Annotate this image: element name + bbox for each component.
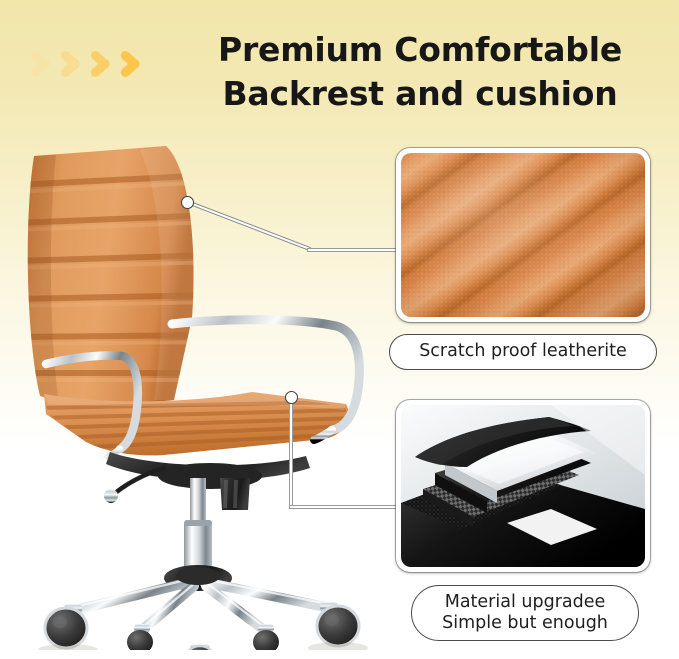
callout-seat-line-horizontal xyxy=(290,506,405,508)
chevron-right-icon-2 xyxy=(60,40,86,88)
chevron-right-icon-1 xyxy=(30,40,56,88)
chevron-right-icon-3 xyxy=(90,40,116,88)
callout-seat-dot xyxy=(285,391,298,404)
chevron-right-icon-4 xyxy=(120,40,146,88)
title-line-1: Premium Comfortable xyxy=(170,28,670,72)
chair-tilt-mechanism xyxy=(104,452,310,503)
poster-title: Premium Comfortable Backrest and cushion xyxy=(170,28,670,115)
label-scratch-proof-leatherite: Scratch proof leatherite xyxy=(389,334,657,370)
label-material-upgrade-line-1: Material upgradee xyxy=(445,592,606,613)
poster-header: Premium Comfortable Backrest and cushion xyxy=(0,0,679,136)
chair-height-knob xyxy=(220,478,250,510)
chevron-group xyxy=(30,40,165,88)
callout-backrest-line-horizontal xyxy=(308,249,403,251)
chair-base xyxy=(76,565,330,650)
label-material-upgrade: Material upgradee Simple but enough xyxy=(411,585,639,641)
label-scratch-proof-leatherite-text: Scratch proof leatherite xyxy=(419,341,627,362)
leather-shading-overlay xyxy=(401,153,645,317)
leatherite-photo xyxy=(401,153,645,317)
callout-backrest-dot xyxy=(181,196,194,209)
office-chair-image xyxy=(14,138,394,650)
callout-seat-line-vertical xyxy=(290,398,292,508)
material-layers-photo xyxy=(401,405,645,567)
title-line-2: Backrest and cushion xyxy=(170,72,670,116)
chair-gas-cylinder xyxy=(184,478,212,578)
inset-leatherite-closeup xyxy=(396,148,650,322)
label-material-upgrade-line-2: Simple but enough xyxy=(442,613,608,634)
chair-seat xyxy=(34,392,354,455)
inset-material-layers-closeup xyxy=(396,400,650,572)
product-feature-poster: Premium Comfortable Backrest and cushion xyxy=(0,0,679,659)
